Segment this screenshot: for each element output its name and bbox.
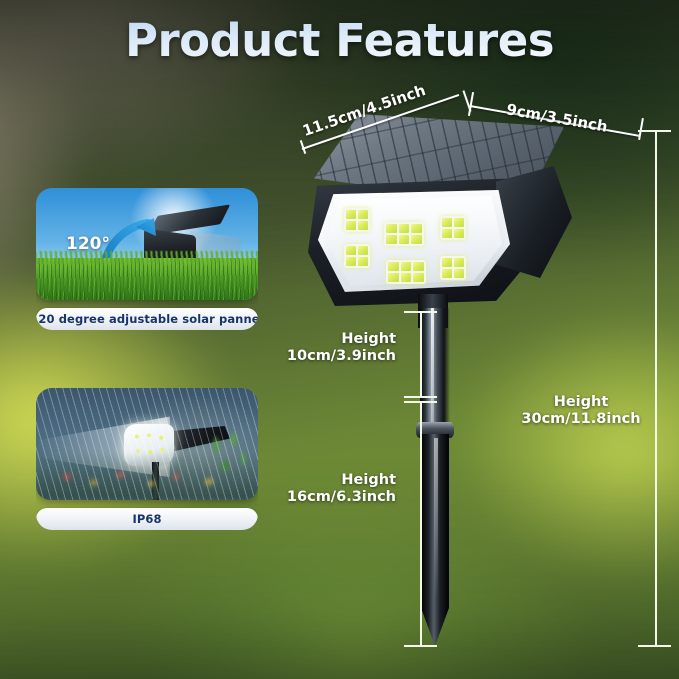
dimension-tick xyxy=(404,645,437,647)
feature-card-waterproof[interactable]: IP68 xyxy=(36,388,258,530)
dimension-label-total-height-word: Height xyxy=(520,394,642,411)
led-cluster xyxy=(384,222,424,246)
dimension-tick xyxy=(638,645,671,647)
dimension-tick xyxy=(404,311,437,313)
dimension-tick xyxy=(404,401,437,403)
feature-image-solar-panel: 120° xyxy=(36,188,258,300)
dimension-tick xyxy=(404,396,437,398)
lamp-housing-side xyxy=(496,166,572,278)
feature-caption-solar-panel: 120 degree adjustable solar pannel xyxy=(36,308,258,330)
dimension-label-stake-height: Height 16cm/6.3inch xyxy=(218,472,396,506)
feature-caption-waterproof: IP68 xyxy=(36,508,258,530)
dimension-line-stake-height xyxy=(420,401,422,647)
dimension-label-head-height-value: 10cm/3.9inch xyxy=(218,348,396,365)
spike-highlight xyxy=(434,438,438,598)
dimension-label-head-height-word: Height xyxy=(218,331,396,348)
led-cluster xyxy=(440,256,466,280)
grass-foreground xyxy=(36,258,258,300)
led-cluster xyxy=(344,244,370,268)
ground-pole xyxy=(420,308,450,426)
led-cluster xyxy=(440,216,466,240)
dimension-line-head-height xyxy=(420,311,422,397)
dimension-label-head-height: Height 10cm/3.9inch xyxy=(218,331,396,365)
product-image-solar-light xyxy=(300,104,640,659)
pole-highlight xyxy=(431,308,434,426)
dimension-tick xyxy=(638,130,671,132)
dimension-label-total-height: Height 30cm/11.8inch xyxy=(520,394,642,428)
dimension-line-total-height xyxy=(655,130,657,647)
led-cluster xyxy=(344,208,370,232)
dimension-label-stake-height-value: 16cm/6.3inch xyxy=(218,489,396,506)
dimension-label-total-height-value: 30cm/11.8inch xyxy=(520,411,642,428)
led-cluster xyxy=(386,260,426,284)
dimension-label-stake-height-word: Height xyxy=(218,472,396,489)
feature-card-solar-panel[interactable]: 120° 120 degree adjustable solar pannel xyxy=(36,188,258,330)
page-title: Product Features xyxy=(0,14,679,67)
product-features-infographic: Product Features 120 xyxy=(0,0,679,679)
